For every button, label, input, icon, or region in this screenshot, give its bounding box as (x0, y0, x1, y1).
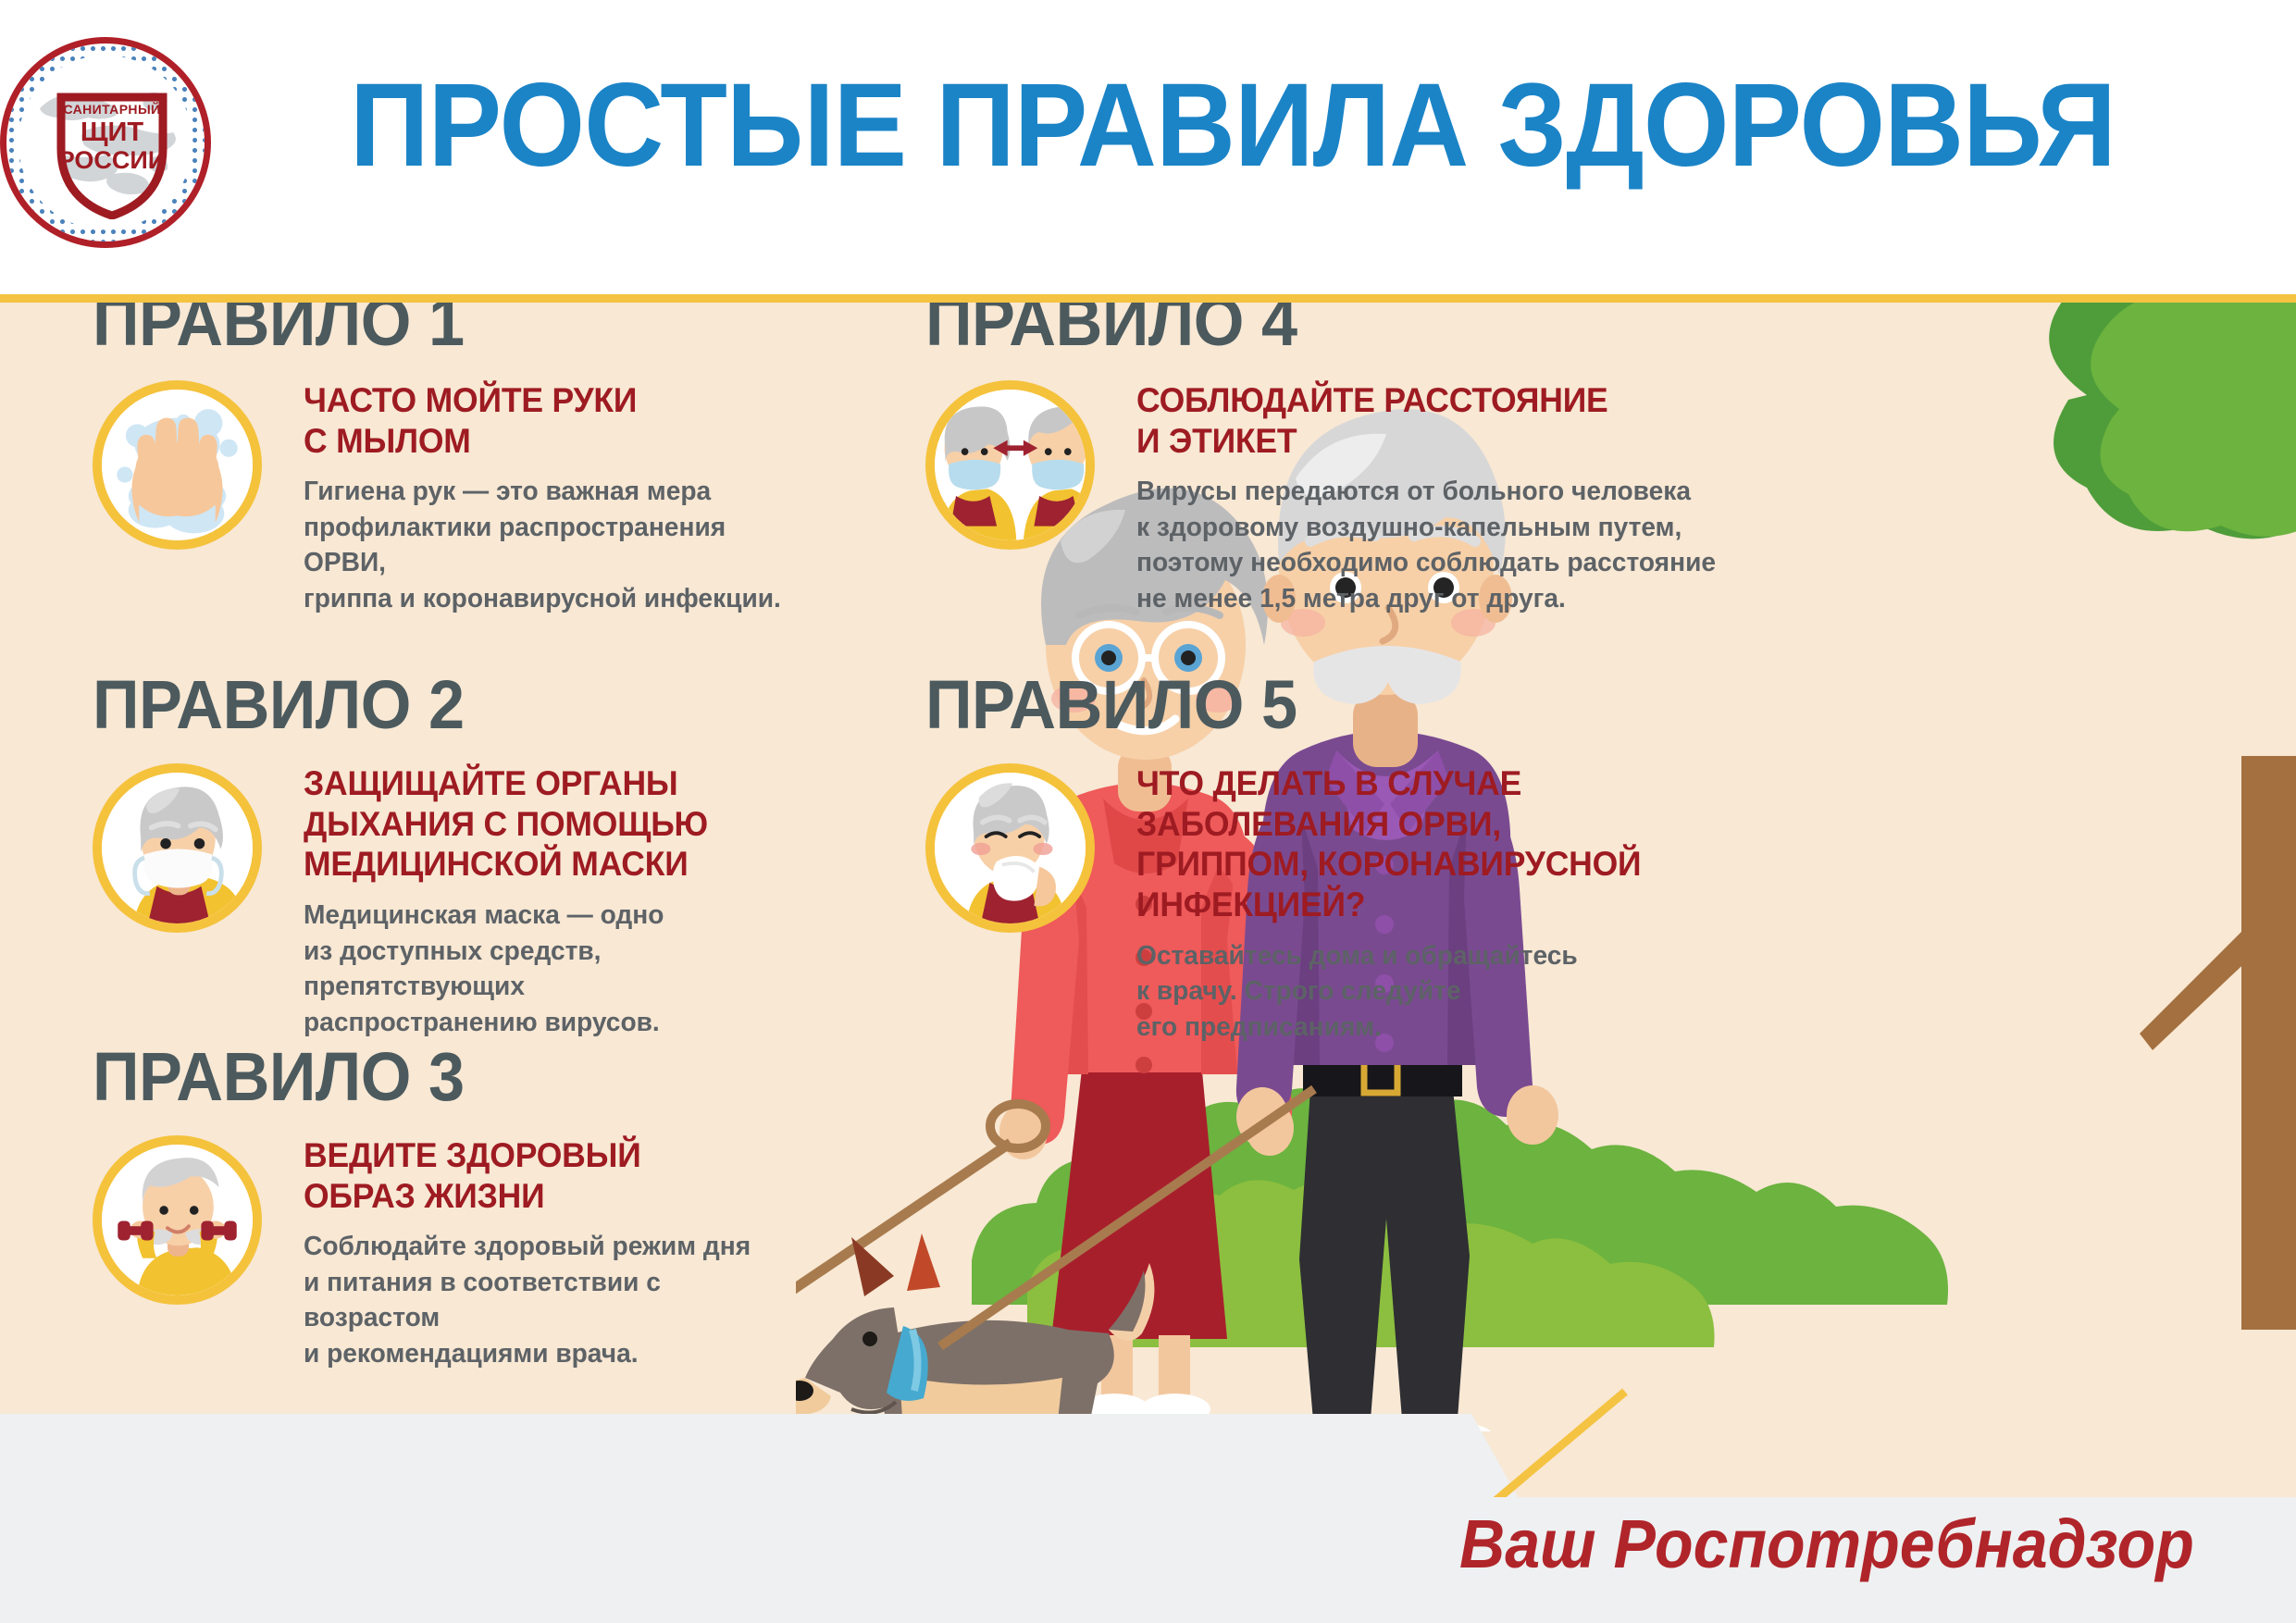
rule-4-number: ПРАВИЛО 4 (925, 294, 1717, 356)
rule-1-title: ЧАСТО МОЙТЕ РУКИС МЫЛОМ (304, 380, 794, 461)
sanitary-shield-logo: САНИТАРНЫЙ ЩИТ РОССИИ (0, 37, 211, 248)
sick-woman-sneezing-icon (925, 763, 1095, 933)
washing-hands-icon (93, 380, 262, 550)
rule-2-desc: Медицинская маска — одноиз доступных сре… (304, 898, 799, 1040)
rule-4-title: СОБЛЮДАЙТЕ РАССТОЯНИЕИ ЭТИКЕТ (1136, 380, 1733, 461)
rule-3-number: ПРАВИЛО 3 (93, 1043, 778, 1111)
content-panel: ПРАВИЛО 1 (0, 294, 2296, 1514)
man-with-dumbbells-icon (93, 1135, 262, 1305)
rule-5-title: ЧТО ДЕЛАТЬ В СЛУЧАЕЗАБОЛЕВАНИЯ ОРВИ,ГРИП… (1136, 763, 1733, 925)
rule-4-block: ПРАВИЛО 4 (925, 294, 1758, 617)
rule-3-block: ПРАВИЛО 3 (93, 1043, 814, 1372)
rule-2-number: ПРАВИЛО 2 (93, 671, 778, 739)
rule-1-desc: Гигиена рук — это важная мерапрофилактик… (304, 474, 799, 616)
rule-3-title: ВЕДИТЕ ЗДОРОВЫЙОБРАЗ ЖИЗНИ (304, 1135, 794, 1216)
page-title: ПРОСТЫЕ ПРАВИЛА ЗДОРОВЬЯ (350, 67, 2123, 185)
logo-line-1: САНИТАРНЫЙ (56, 103, 168, 116)
rule-2-title: ЗАЩИЩАЙТЕ ОРГАНЫДЫХАНИЯ С ПОМОЩЬЮМЕДИЦИН… (304, 763, 794, 885)
page-header: САНИТАРНЫЙ ЩИТ РОССИИ ПРОСТЫЕ ПРАВИЛА ЗД… (0, 0, 2296, 294)
rule-4-desc: Вирусы передаются от больного человекак … (1136, 474, 1740, 616)
rule-5-number: ПРАВИЛО 5 (925, 671, 1717, 739)
social-distance-icon (925, 380, 1095, 550)
logo-line-3: РОССИИ (56, 148, 168, 173)
rule-1-block: ПРАВИЛО 1 (93, 294, 814, 617)
tree-graphic (2049, 294, 2296, 1330)
rule-5-block: ПРАВИЛО 5 (925, 671, 1758, 1045)
rule-1-number: ПРАВИЛО 1 (93, 294, 778, 356)
rule-5-desc: Оставайтесь дома и обращайтеськ врачу. С… (1136, 938, 1740, 1046)
man-in-mask-icon (93, 763, 262, 933)
rule-3-desc: Соблюдайте здоровый режим дняи питания в… (304, 1229, 799, 1371)
footer-brand: Ваш Роспотребнадзор (1459, 1505, 2194, 1583)
globe-icon: САНИТАРНЫЙ ЩИТ РОССИИ (0, 37, 211, 248)
logo-line-2: ЩИТ (56, 119, 168, 146)
logo-text: САНИТАРНЫЙ ЩИТ РОССИИ (56, 103, 168, 173)
rule-2-block: ПРАВИЛО 2 (93, 671, 814, 1040)
